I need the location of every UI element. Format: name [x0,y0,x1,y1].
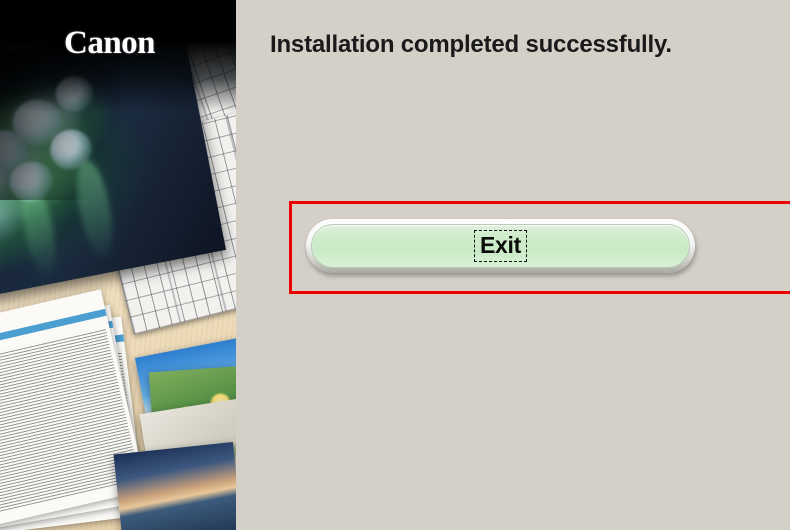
stem-shape [0,187,4,287]
content-area: Installation completed successfully. Exi… [236,0,790,530]
floret-shape [52,73,96,116]
canon-logo: Canon [64,27,155,60]
installer-window: Canon CTION DESIGN Installation complete… [0,0,790,530]
focus-outline: Exit [474,230,527,262]
page-title: Installation completed successfully. [270,31,672,59]
stem-shape [71,158,119,260]
exit-button-face[interactable]: Exit [311,224,690,268]
photo-print-sunset [114,442,236,530]
exit-button-label: Exit [480,232,521,258]
artwork-panel: Canon CTION DESIGN [0,0,236,530]
exit-button[interactable]: Exit [306,219,695,273]
